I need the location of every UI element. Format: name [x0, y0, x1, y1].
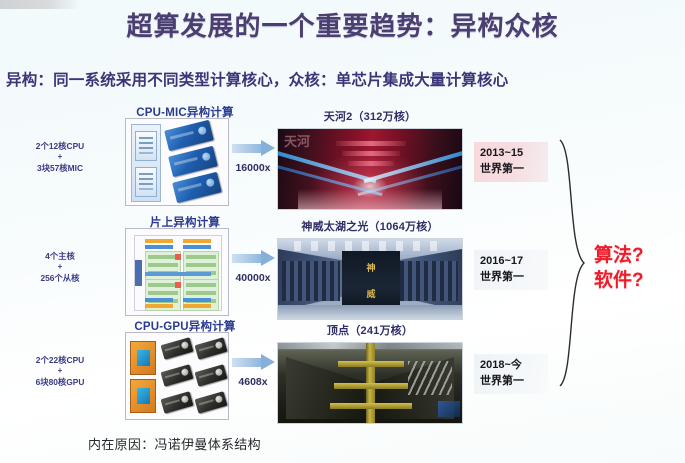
spec-plus: +: [14, 263, 106, 272]
speedup-arrow-icon: [232, 354, 276, 370]
gpu-card-icon: [195, 391, 228, 414]
spec-top: 2个12核CPU: [36, 141, 84, 151]
supercomputer-photo-summit: [277, 342, 463, 424]
supercomputer-photo-tianhe2: 天河: [277, 128, 463, 210]
speedup-multiplier: 4608x: [224, 376, 282, 388]
cabinet-logo-2: 威: [342, 287, 400, 300]
spec-bottom: 3块57核MIC: [37, 163, 83, 173]
spec-label: 2个12核CPU + 3块57核MIC: [14, 140, 106, 175]
hardware-diagram-cpu-gpu: [125, 332, 229, 420]
mic-card-icon: [172, 172, 222, 204]
cabinet-logo: 神: [342, 263, 400, 275]
right-brace-icon: [556, 138, 590, 388]
photo-caption: 顶点（241万核）: [270, 322, 470, 338]
conclusion-text: 算法? 软件?: [594, 243, 682, 293]
hardware-diagram-on-chip: [125, 228, 229, 316]
slide-subtitle: 异构：同一系统采用不同类型计算核心，众核：单芯片集成大量计算核心: [6, 68, 679, 90]
speedup-multiplier: 40000x: [224, 272, 282, 284]
bottom-note: 内在原因：冯诺伊曼体系结构: [88, 434, 261, 453]
speedup-arrow-icon: [232, 250, 276, 266]
rank-label: 世界第一: [480, 374, 546, 390]
hardware-diagram-cpu-mic: [125, 118, 229, 206]
rank-badge: 2016~17 世界第一: [474, 250, 548, 290]
photo-caption: 神威太湖之光（1064万核）: [270, 218, 470, 234]
spec-label: 4个主核 + 256个从核: [14, 250, 106, 285]
supercomputer-photo-sunway: 神 威: [277, 238, 463, 320]
speedup-arrow-icon: [232, 140, 276, 156]
rank-badge: 2018~今 世界第一: [474, 354, 548, 394]
gpu-card-icon: [195, 364, 228, 387]
gpu-card-icon: [161, 337, 194, 360]
rank-years: 2016~17: [480, 254, 546, 270]
spec-bottom: 6块80核GPU: [36, 377, 85, 387]
page-title: 超算发展的一个重要趋势：异构众核: [0, 6, 685, 43]
spec-top: 4个主核: [45, 251, 75, 261]
spec-top: 2个22核CPU: [36, 355, 84, 365]
photo-caption: 天河2（312万核）: [270, 108, 470, 124]
spec-label: 2个22核CPU + 6块80核GPU: [14, 354, 106, 389]
gpu-card-icon: [195, 337, 228, 360]
rank-badge: 2013~15 世界第一: [474, 142, 548, 182]
cabinet: 神 威: [342, 251, 400, 311]
gpu-card-icon: [161, 364, 194, 387]
slide-canvas: 超算发展的一个重要趋势：异构众核 异构：同一系统采用不同类型计算核心，众核：单芯…: [0, 0, 685, 463]
gpu-card-icon: [161, 391, 194, 414]
spec-bottom: 256个从核: [40, 273, 79, 283]
cpu-die-icon: [130, 379, 156, 413]
manycore-chip-icon: [134, 235, 222, 311]
photo-logo: 天河: [284, 131, 310, 150]
rank-years: 2013~15: [480, 146, 546, 162]
rank-years: 2018~今: [480, 358, 546, 374]
rank-label: 世界第一: [480, 162, 546, 178]
rank-label: 世界第一: [480, 270, 546, 286]
cpu-die-icon: [130, 341, 156, 375]
speedup-multiplier: 16000x: [224, 162, 282, 174]
conclusion-line-1: 算法?: [594, 243, 682, 268]
spec-plus: +: [14, 153, 106, 162]
cpu-tower-icon: [131, 124, 161, 202]
spec-plus: +: [14, 367, 106, 376]
conclusion-line-2: 软件?: [594, 268, 682, 293]
